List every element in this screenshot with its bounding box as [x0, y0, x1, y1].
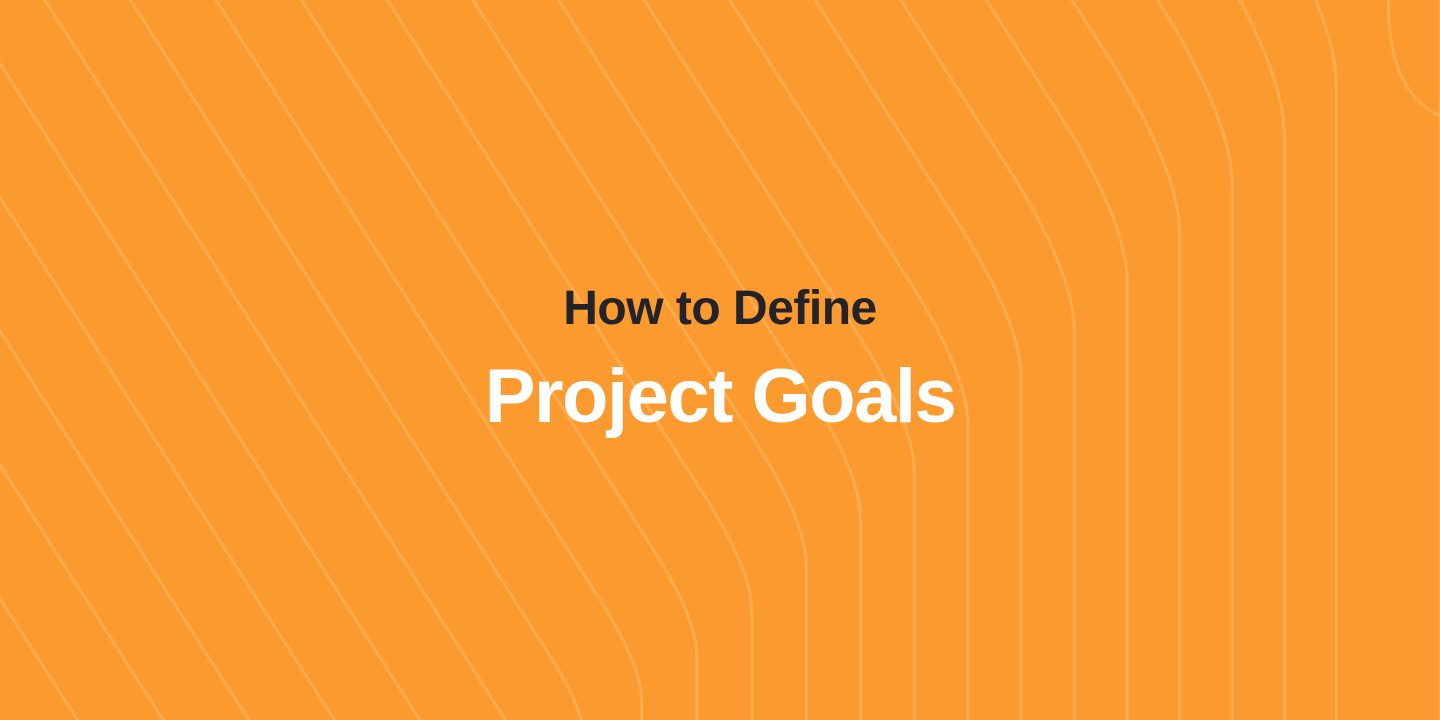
title-banner: How to Define Project Goals — [0, 0, 1440, 720]
banner-title: Project Goals — [485, 359, 955, 435]
banner-eyebrow: How to Define — [563, 285, 877, 333]
banner-content: How to Define Project Goals — [0, 0, 1440, 720]
